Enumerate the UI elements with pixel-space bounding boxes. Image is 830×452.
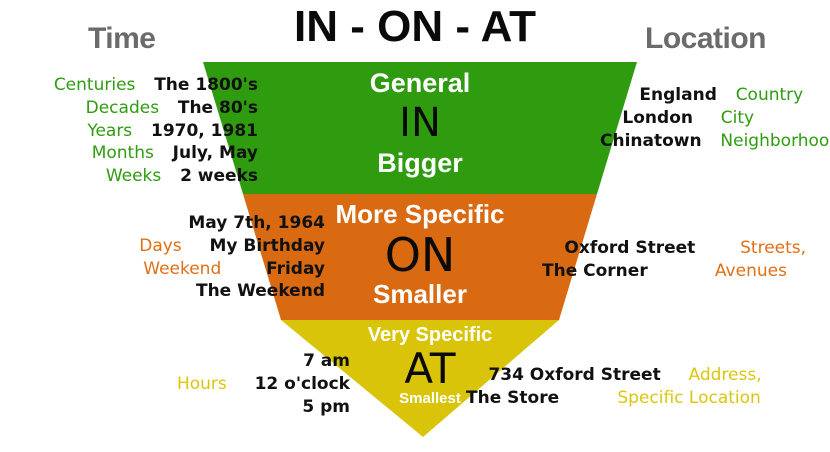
location-examples-at: 734 Oxford Street Address, The Store Spe… [466,364,830,410]
list-item: London City [600,107,826,130]
list-item: The Weekend [60,280,325,303]
example-value: The Weekend [196,281,325,301]
location-examples-on: Oxford Street Streets, The Corner Avenue… [542,237,828,283]
example-value: Chinatown [600,131,702,151]
example-value: 12 o'clock [255,374,350,394]
list-item: Weekend Friday [60,258,325,281]
example-label: Weekend [143,259,221,279]
example-value: Oxford Street [564,238,695,258]
example-label: Avenues [715,261,787,281]
list-item: Decades The 80's [8,97,258,120]
column-header-time: Time [88,22,155,56]
example-label: Neighborhood [720,131,830,151]
list-item: Centuries The 1800's [8,74,258,97]
example-label: City [721,108,754,128]
time-examples-at: 7 am Hours 12 o'clock 5 pm [150,350,350,418]
example-value: London [622,108,693,128]
example-value: 734 Oxford Street [488,365,660,385]
example-label: Country [736,85,804,105]
list-item: The Corner Avenues [542,260,828,283]
list-item: Years 1970, 1981 [8,120,258,143]
example-label: Specific Location [617,388,760,408]
example-value: The 80's [178,98,258,118]
example-value: 2 weeks [180,166,258,186]
list-item: Months July, May [8,142,258,165]
example-value: The 1800's [154,75,258,95]
list-item: May 7th, 1964 [60,212,325,235]
list-item: Days My Birthday [60,235,325,258]
list-item: 5 pm [150,396,350,419]
example-label: Hours [177,374,227,394]
example-label: Weeks [106,166,161,186]
list-item: Weeks 2 weeks [8,165,258,188]
example-value: My Birthday [209,236,325,256]
infographic-canvas: IN - ON - AT Time Location General IN Bi… [0,0,830,452]
band-caption-bigger: Bigger [300,148,540,179]
band-preposition-in: IN [300,100,540,146]
location-examples-in: England Country London City Chinatown Ne… [600,84,826,152]
list-item: 734 Oxford Street Address, [466,364,830,387]
list-item: Chinatown Neighborhood [600,130,826,153]
time-examples-on: May 7th, 1964 Days My Birthday Weekend F… [60,212,325,303]
example-label: Centuries [54,75,136,95]
example-value: 5 pm [302,397,350,417]
example-value: England [639,85,716,105]
example-label: Decades [86,98,159,118]
example-value: The Store [466,388,559,408]
list-item: The Store Specific Location [466,387,830,410]
list-item: Hours 12 o'clock [150,373,350,396]
list-item: 7 am [150,350,350,373]
example-label: Months [92,143,154,163]
example-label: Years [87,121,132,141]
example-label: Streets, [740,238,806,258]
example-value: The Corner [542,261,648,281]
time-examples-in: Centuries The 1800's Decades The 80's Ye… [8,74,258,188]
example-label: Address, [689,365,762,385]
example-value: 1970, 1981 [151,121,258,141]
example-value: July, May [173,143,258,163]
band-caption-general: General [300,68,540,99]
list-item: England Country [600,84,826,107]
example-label: Days [139,236,181,256]
column-header-location: Location [645,22,766,56]
example-value: 7 am [303,351,350,371]
list-item: Oxford Street Streets, [542,237,828,260]
example-value: Friday [266,259,325,279]
example-value: May 7th, 1964 [188,213,325,233]
